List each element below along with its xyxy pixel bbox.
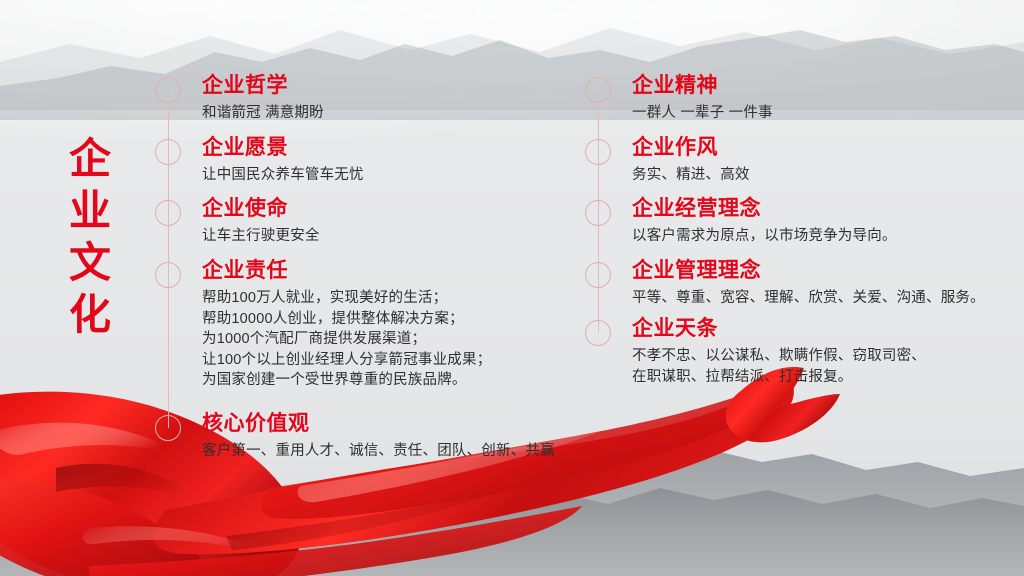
entry-body: 不孝不忠、以公谋私、欺瞒作假、窃取司密、 在职谋职、拉帮结派、打击报复。 (632, 346, 1010, 387)
entry-corporate-vision: 企业愿景 让中国民众养车管车无忧 (202, 136, 570, 186)
timeline-node-left-3[interactable] (155, 200, 181, 226)
entry-corporate-spirit: 企业精神 一群人 一辈子 一件事 (632, 74, 1010, 124)
timeline-node-left-1[interactable] (155, 77, 181, 103)
timeline-node-right-2[interactable] (585, 139, 611, 165)
entry-business-philosophy: 企业经营理念 以客户需求为原点，以市场竞争为导向。 (632, 197, 1010, 247)
entry-heading: 企业经营理念 (632, 197, 1010, 221)
entry-management-philosophy: 企业管理理念 平等、尊重、宽容、理解、欣赏、关爱、沟通、服务。 (632, 259, 1010, 309)
timeline-node-left-5[interactable] (155, 415, 181, 441)
entry-corporate-mission: 企业使命 让车主行驶更安全 (202, 197, 570, 247)
entry-body: 一群人 一辈子 一件事 (632, 103, 1010, 124)
page-title-vertical: 企 业 文 化 (52, 133, 128, 341)
entry-core-values: 核心价值观 客户第一、重用人才、诚信、责任、团队、创新、共赢 (202, 412, 570, 462)
entry-heading: 企业使命 (202, 197, 570, 221)
entry-heading: 企业天条 (632, 317, 1010, 341)
culture-slide: 企 业 文 化 企业哲学 和谐箭冠 满意期盼 企业愿景 让中国民众养车管车无忧 … (0, 0, 1024, 576)
entry-corporate-philosophy: 企业哲学 和谐箭冠 满意期盼 (202, 74, 570, 124)
timeline-node-right-1[interactable] (585, 77, 611, 103)
entry-heading: 企业精神 (632, 74, 1010, 98)
entry-heading: 企业哲学 (202, 74, 570, 98)
entry-cardinal-rules: 企业天条 不孝不忠、以公谋私、欺瞒作假、窃取司密、 在职谋职、拉帮结派、打击报复… (632, 317, 1010, 387)
entry-body: 平等、尊重、宽容、理解、欣赏、关爱、沟通、服务。 (632, 288, 1010, 309)
entry-heading: 核心价值观 (202, 412, 570, 436)
timeline-node-right-5[interactable] (585, 320, 611, 346)
title-char-1: 企 (52, 133, 128, 185)
entry-heading: 企业责任 (202, 259, 570, 283)
entry-corporate-responsibility: 企业责任 帮助100万人就业，实现美好的生活； 帮助10000人创业，提供整体解… (202, 259, 570, 391)
entry-body: 务实、精进、高效 (632, 165, 1010, 186)
entry-body: 让中国民众养车管车无忧 (202, 165, 570, 186)
entry-heading: 企业愿景 (202, 136, 570, 160)
entry-body: 让车主行驶更安全 (202, 226, 570, 247)
entry-body: 以客户需求为原点，以市场竞争为导向。 (632, 226, 1010, 247)
entry-body: 客户第一、重用人才、诚信、责任、团队、创新、共赢 (202, 441, 570, 462)
title-char-4: 化 (52, 289, 128, 341)
timeline-node-left-2[interactable] (155, 139, 181, 165)
right-timeline-column: 企业精神 一群人 一辈子 一件事 企业作风 务实、精进、高效 企业经营理念 以客… (580, 0, 1010, 576)
entry-corporate-style: 企业作风 务实、精进、高效 (632, 136, 1010, 186)
timeline-node-left-4[interactable] (155, 262, 181, 288)
title-char-3: 文 (52, 237, 128, 289)
left-timeline-column: 企业哲学 和谐箭冠 满意期盼 企业愿景 让中国民众养车管车无忧 企业使命 让车主… (150, 0, 570, 576)
title-char-2: 业 (52, 185, 128, 237)
entry-heading: 企业管理理念 (632, 259, 1010, 283)
entry-body: 和谐箭冠 满意期盼 (202, 103, 570, 124)
entry-body: 帮助100万人就业，实现美好的生活； 帮助10000人创业，提供整体解决方案； … (202, 288, 570, 391)
timeline-node-right-3[interactable] (585, 200, 611, 226)
entry-heading: 企业作风 (632, 136, 1010, 160)
timeline-node-right-4[interactable] (585, 262, 611, 288)
